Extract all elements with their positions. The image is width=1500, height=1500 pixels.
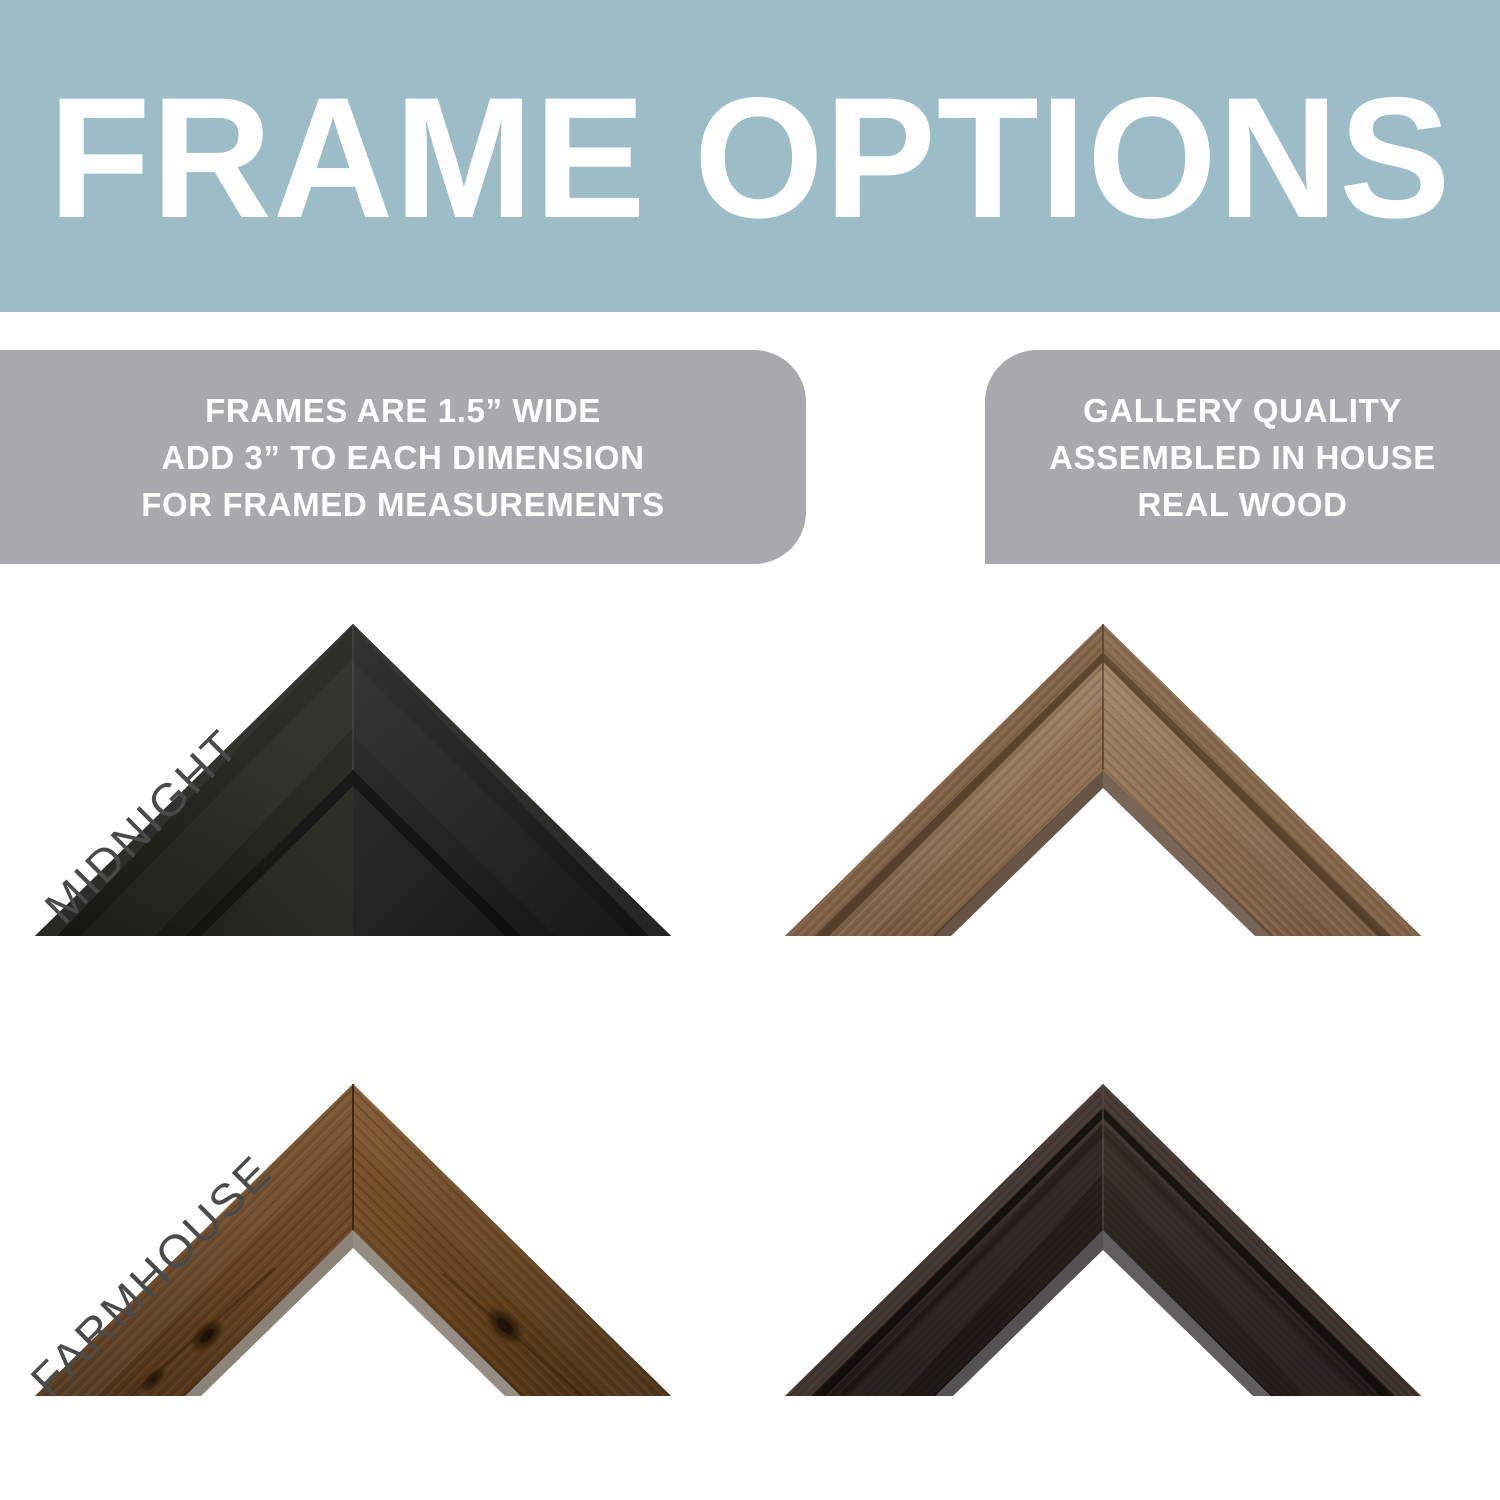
frame-corner-image-midnight	[35, 618, 671, 936]
frame-sample-charcoal[interactable]: CHARCOAL	[750, 1050, 1500, 1500]
frame-options-infographic: FRAME OPTIONS FRAMES ARE 1.5” WIDE ADD 3…	[0, 0, 1500, 1500]
sizing-info-panel: FRAMES ARE 1.5” WIDE ADD 3” TO EACH DIME…	[0, 350, 806, 564]
sizing-info-line-2: ADD 3” TO EACH DIMENSION	[161, 434, 644, 481]
sizing-info-line-1: FRAMES ARE 1.5” WIDE	[205, 387, 601, 434]
frame-sample-midnight[interactable]: MIDNIGHT	[0, 590, 750, 1060]
page-title: FRAME OPTIONS	[23, 72, 1478, 244]
quality-info-line-2: ASSEMBLED IN HOUSE	[1049, 434, 1436, 481]
frame-corner-image-driftwood	[785, 618, 1421, 936]
frame-corner-image-charcoal	[785, 1078, 1421, 1396]
frame-sample-driftwood[interactable]: DRIFTWOOD	[750, 590, 1500, 1060]
header-banner: FRAME OPTIONS	[0, 0, 1500, 312]
quality-info-panel: GALLERY QUALITY ASSEMBLED IN HOUSE REAL …	[985, 350, 1500, 564]
quality-info-line-1: GALLERY QUALITY	[1083, 387, 1402, 434]
frame-corner-image-farmhouse	[35, 1078, 671, 1396]
frame-sample-farmhouse[interactable]: FARMHOUSE	[0, 1050, 750, 1500]
sizing-info-line-3: FOR FRAMED MEASUREMENTS	[141, 481, 664, 528]
quality-info-line-3: REAL WOOD	[1137, 481, 1347, 528]
